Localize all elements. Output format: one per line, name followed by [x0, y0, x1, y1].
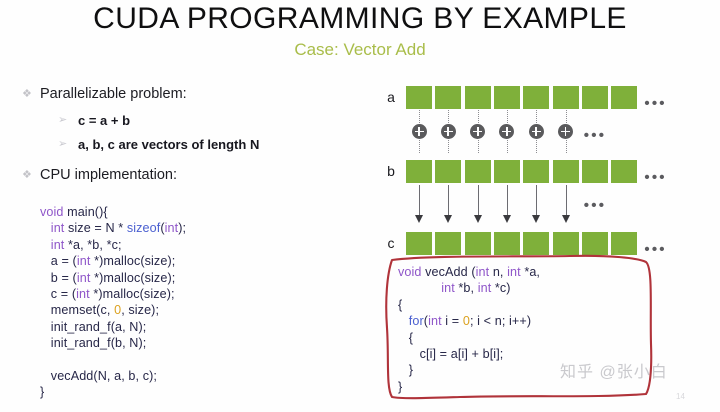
operator-connector-line: [478, 110, 480, 123]
code-token: int: [51, 238, 68, 252]
page-number: 14: [676, 392, 685, 401]
code-token: int: [77, 271, 94, 285]
row-ellipsis-b: •••: [644, 173, 666, 183]
page-title: CUDA PROGRAMMING BY EXAMPLE: [0, 2, 720, 36]
code-token: c[i] = a[i] + b[i];: [398, 347, 503, 361]
operator-connector-line: [566, 110, 568, 123]
plus-operator-icon: [441, 124, 456, 139]
vector-cell-b: [465, 160, 491, 183]
code-token: for: [409, 314, 424, 328]
code-token: *)malloc(size);: [94, 254, 175, 268]
down-arrow-shaft: [478, 185, 479, 215]
code-token: int: [476, 265, 493, 279]
gpu-code-line: }: [398, 362, 540, 378]
code-token: {: [398, 331, 413, 345]
operator-ellipsis: •••: [584, 131, 606, 141]
code-token: int: [51, 221, 68, 235]
down-arrow-head-icon: [474, 215, 482, 223]
cpu-code-line: c = (int *)malloc(size);: [40, 286, 186, 302]
operator-connector-line: [448, 110, 450, 123]
code-token: [40, 353, 44, 367]
down-arrow-shaft: [507, 185, 508, 215]
down-arrow-head-icon: [444, 215, 452, 223]
down-arrow-shaft: [419, 185, 420, 215]
gpu-vecadd-code-block: void vecAdd (int n, int *a, int *b, int …: [398, 264, 540, 395]
code-token: {: [398, 298, 402, 312]
code-token: memset(c,: [40, 303, 114, 317]
code-token: [398, 314, 409, 328]
row-ellipsis-a: •••: [644, 99, 666, 109]
code-token: i =: [445, 314, 463, 328]
bullet-label: Parallelizable problem:: [40, 84, 187, 104]
code-token: a = (: [40, 254, 77, 268]
vector-cell-a: [494, 86, 520, 109]
vector-cell-b: [406, 160, 432, 183]
chevron-bullet-icon: ➢: [58, 111, 78, 130]
gpu-code-line: }: [398, 379, 540, 395]
operator-connector-line: [448, 140, 450, 153]
cpu-code-line: int size = N * sizeof(int);: [40, 220, 186, 236]
code-token: init_rand_f(a, N);: [40, 320, 146, 334]
code-token: int: [441, 281, 458, 295]
vector-cell-a: [611, 86, 637, 109]
cpu-code-line: b = (int *)malloc(size);: [40, 270, 186, 286]
operator-connector-line: [566, 140, 568, 153]
sub-bullet-label: a, b, c are vectors of length N: [78, 135, 259, 154]
code-token: int: [507, 265, 524, 279]
page-subtitle: Case: Vector Add: [0, 40, 720, 60]
gpu-code-line: {: [398, 297, 540, 313]
code-token: int: [77, 254, 94, 268]
operator-connector-line: [419, 110, 421, 123]
gpu-code-line: int *b, int *c): [398, 280, 540, 296]
bullet-item-cpu-implementation: ❖ CPU implementation:: [22, 165, 362, 185]
code-token: }: [40, 385, 44, 399]
code-token: init_rand_f(b, N);: [40, 336, 146, 350]
vector-cell-a: [406, 86, 432, 109]
cpu-code-line: void main(){: [40, 204, 186, 220]
diamond-bullet-icon: ❖: [22, 165, 40, 185]
plus-operator-icon: [529, 124, 544, 139]
code-token: b = (: [40, 271, 77, 285]
operator-connector-line: [507, 110, 509, 123]
down-arrow-head-icon: [532, 215, 540, 223]
vector-row-label-a: a: [384, 89, 398, 105]
code-token: c = (: [40, 287, 76, 301]
plus-operator-icon: [558, 124, 573, 139]
vector-cell-a: [523, 86, 549, 109]
code-token: }: [398, 380, 402, 394]
vector-cell-a: [465, 86, 491, 109]
vector-cell-b: [611, 160, 637, 183]
code-token: }: [398, 363, 413, 377]
cpu-code-block: void main(){ int size = N * sizeof(int);…: [40, 204, 186, 401]
code-token: void: [398, 265, 425, 279]
vector-cell-a: [553, 86, 579, 109]
cpu-code-line: a = (int *)malloc(size);: [40, 253, 186, 269]
code-token: int: [76, 287, 93, 301]
slide-canvas: CUDA PROGRAMMING BY EXAMPLE Case: Vector…: [0, 0, 720, 412]
vector-cell-a: [435, 86, 461, 109]
code-token: , size);: [121, 303, 159, 317]
code-token: main(){: [67, 205, 108, 219]
vector-cell-b: [582, 160, 608, 183]
cpu-code-line: }: [40, 384, 186, 400]
gpu-code-line: for(int i = 0; i < n; i++): [398, 313, 540, 329]
diamond-bullet-icon: ❖: [22, 84, 40, 104]
code-token: void: [40, 205, 67, 219]
down-arrow-shaft: [536, 185, 537, 215]
down-arrow-head-icon: [415, 215, 423, 223]
operator-connector-line: [536, 110, 538, 123]
bullet-item-parallelizable: ❖ Parallelizable problem:: [22, 84, 362, 104]
sub-bullet-item-vectors: ➢ a, b, c are vectors of length N: [22, 135, 362, 154]
vecadd-function-annotated-region: void vecAdd (int n, int *a, int *b, int …: [370, 248, 670, 406]
vector-row-label-b: b: [384, 163, 398, 179]
cpu-code-line: init_rand_f(b, N);: [40, 335, 186, 351]
arrow-ellipsis: •••: [584, 201, 606, 211]
gpu-code-line: void vecAdd (int n, int *a,: [398, 264, 540, 280]
plus-operator-icon: [499, 124, 514, 139]
code-token: *b,: [458, 281, 477, 295]
operator-connector-line: [419, 140, 421, 153]
code-token: ; i < n; i++): [470, 314, 531, 328]
code-token: [40, 221, 51, 235]
code-token: size = N *: [68, 221, 127, 235]
code-token: sizeof: [127, 221, 161, 235]
gpu-code-line: c[i] = a[i] + b[i];: [398, 346, 540, 362]
plus-operator-icon: [470, 124, 485, 139]
code-token: );: [178, 221, 186, 235]
operator-connector-line: [536, 140, 538, 153]
vector-cell-b: [435, 160, 461, 183]
plus-operator-icon: [412, 124, 427, 139]
vector-cell-b: [553, 160, 579, 183]
bullet-list: ❖ Parallelizable problem: ➢ c = a + b ➢ …: [22, 84, 362, 192]
operator-connector-line: [507, 140, 509, 153]
chevron-bullet-icon: ➢: [58, 135, 78, 154]
down-arrow-shaft: [448, 185, 449, 215]
gpu-code-line: {: [398, 330, 540, 346]
code-token: vecAdd(N, a, b, c);: [40, 369, 157, 383]
sub-bullet-label: c = a + b: [78, 111, 130, 130]
down-arrow-head-icon: [562, 215, 570, 223]
sub-bullet-item-equation: ➢ c = a + b: [22, 111, 362, 130]
cpu-code-line: int *a, *b, *c;: [40, 237, 186, 253]
vector-cell-b: [523, 160, 549, 183]
watermark: 知乎 @张小白: [560, 358, 668, 382]
code-token: *c): [495, 281, 511, 295]
down-arrow-head-icon: [503, 215, 511, 223]
cpu-code-line: vecAdd(N, a, b, c);: [40, 368, 186, 384]
vector-add-diagram: a•••b•••c•••••••••: [384, 84, 660, 254]
cpu-code-line: [40, 352, 186, 368]
code-token: [40, 238, 51, 252]
code-token: n,: [493, 265, 507, 279]
code-token: [398, 281, 441, 295]
code-token: int: [478, 281, 495, 295]
vector-cell-b: [494, 160, 520, 183]
operator-connector-line: [478, 140, 480, 153]
bullet-label: CPU implementation:: [40, 165, 177, 185]
code-token: *)malloc(size);: [94, 271, 175, 285]
code-token: int: [165, 221, 179, 235]
code-token: *a, *b, *c;: [68, 238, 122, 252]
code-token: 0: [463, 314, 470, 328]
down-arrow-shaft: [566, 185, 567, 215]
code-token: int: [428, 314, 445, 328]
code-token: *a,: [524, 265, 540, 279]
code-token: *)malloc(size);: [93, 287, 174, 301]
cpu-code-line: memset(c, 0, size);: [40, 302, 186, 318]
vector-cell-a: [582, 86, 608, 109]
code-token: vecAdd (: [425, 265, 476, 279]
cpu-code-line: init_rand_f(a, N);: [40, 319, 186, 335]
